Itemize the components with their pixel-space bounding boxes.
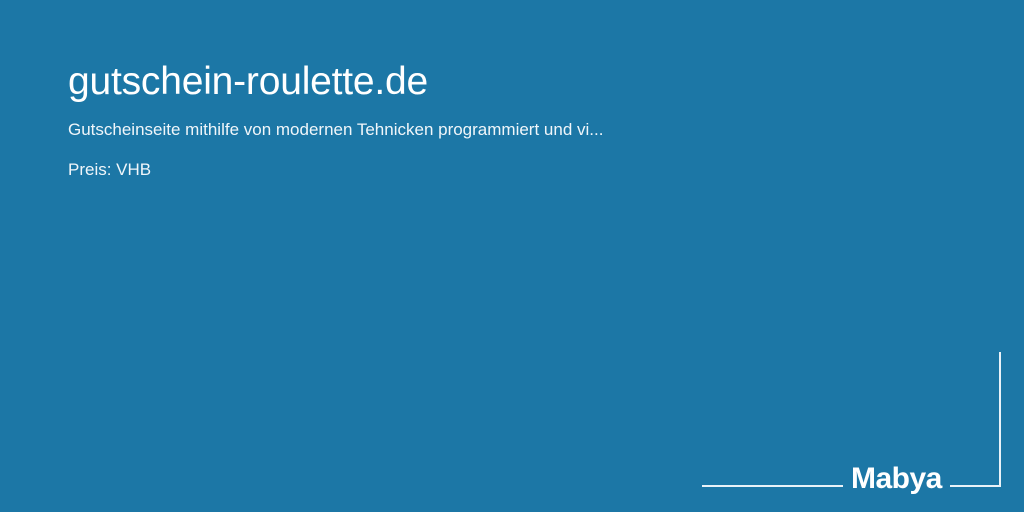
- brand-logo-text: Mabya: [851, 462, 942, 496]
- vertical-rule-decoration: [999, 352, 1001, 487]
- left-rule-decoration: [702, 485, 843, 487]
- listing-text-block: gutschein-roulette.de Gutscheinseite mit…: [68, 58, 768, 182]
- listing-card: gutschein-roulette.de Gutscheinseite mit…: [0, 0, 1024, 512]
- listing-price: Preis: VHB: [68, 158, 768, 182]
- right-rule-decoration: [950, 485, 1001, 487]
- page-title: gutschein-roulette.de: [68, 58, 768, 106]
- listing-description: Gutscheinseite mithilfe von modernen Teh…: [68, 118, 768, 142]
- brand-lockup: Mabya: [702, 352, 1001, 487]
